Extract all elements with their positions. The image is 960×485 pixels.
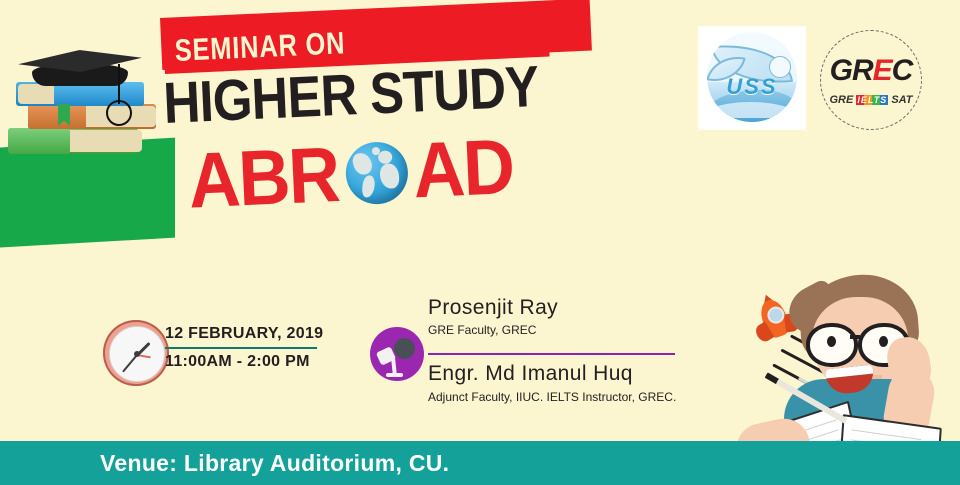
speaker-2: Engr. Md Imanul Huq Adjunct Faculty, IIU… xyxy=(428,362,688,404)
grec-sub-ielts: IELTS xyxy=(856,95,888,105)
uss-logo-text: USS xyxy=(707,74,797,100)
microphone-icon xyxy=(370,327,424,381)
headline-block: SEMINAR ON HIGHER STUDY ABR AD xyxy=(150,8,620,238)
event-time: 11:00AM - 2:00 PM xyxy=(165,353,320,371)
books-stack-icon xyxy=(2,28,162,168)
boy-eye-left xyxy=(827,336,836,347)
clock-center-pin xyxy=(134,351,140,357)
grec-sub-gre: GRE xyxy=(830,94,854,106)
speaker-divider xyxy=(428,353,675,355)
title-line-2: ABR AD xyxy=(180,121,519,227)
event-date: 12 FEBRUARY, 2019 xyxy=(165,325,320,343)
schedule-divider xyxy=(165,347,317,349)
microphone-base xyxy=(386,373,403,377)
uss-logo-circle: USS xyxy=(707,32,797,122)
venue-text: Venue: Library Auditorium, CU. xyxy=(100,450,449,477)
abroad-left: ABR xyxy=(187,129,341,227)
globe-icon xyxy=(344,140,409,205)
schedule-block: 12 FEBRUARY, 2019 11:00AM - 2:00 PM xyxy=(165,325,320,371)
speaker-1-name: Prosenjit Ray xyxy=(428,296,673,320)
speaker-2-role: Adjunct Faculty, IIUC. IELTS Instructor,… xyxy=(428,390,688,404)
grec-main-e: E xyxy=(873,54,892,87)
boy-eye-right xyxy=(879,336,888,347)
grec-sub-sat: SAT xyxy=(891,94,912,106)
clock-face xyxy=(109,326,165,382)
clock-icon xyxy=(103,320,169,386)
glasses-bridge xyxy=(850,335,860,339)
poster-canvas: SEMINAR ON HIGHER STUDY ABR AD USS GREC … xyxy=(0,0,960,485)
clock-minute-hand xyxy=(122,354,138,372)
grec-logo: GREC GRE IELTS SAT xyxy=(820,30,922,130)
grec-logo-wordmark: GREC xyxy=(820,54,922,88)
uss-logo: USS xyxy=(698,26,806,130)
speaker-1: Prosenjit Ray GRE Faculty, GREC xyxy=(428,296,673,337)
abroad-right: AD xyxy=(411,121,515,216)
grec-main-left: GR xyxy=(830,54,873,87)
grec-logo-subtitle: GRE IELTS SAT xyxy=(820,94,922,106)
speaker-1-role: GRE Faculty, GREC xyxy=(428,323,673,337)
grec-main-right: C xyxy=(892,54,913,87)
speaker-2-name: Engr. Md Imanul Huq xyxy=(428,362,688,386)
